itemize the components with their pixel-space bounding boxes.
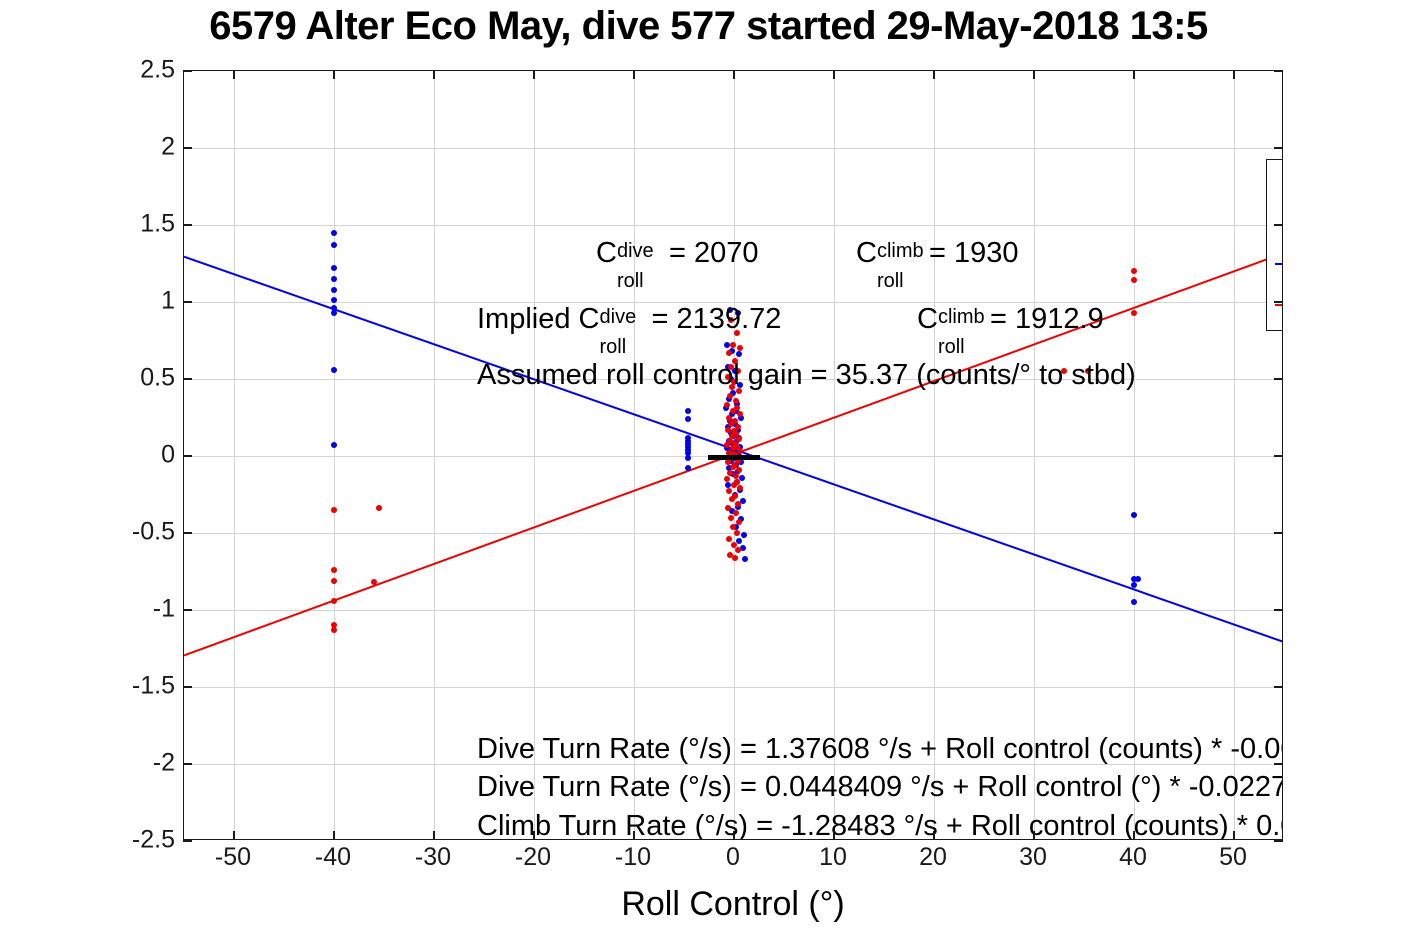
data-point-dive	[331, 230, 337, 236]
y-axis-tick	[183, 686, 192, 688]
annotation-c-climb-value: = 1930	[921, 237, 1019, 269]
data-layer	[184, 71, 1283, 840]
data-point-climb	[331, 567, 337, 573]
annotation-implied-climb: Cclimbroll = 1912.9	[917, 303, 1104, 336]
data-point-climb	[732, 555, 738, 561]
data-point-dive	[1131, 512, 1137, 518]
y-axis-tick	[183, 840, 192, 842]
equation-climb-counts: Climb Turn Rate (°/s) = -1.28483 °/s + R…	[477, 810, 1283, 840]
data-point-climb	[727, 393, 733, 399]
x-axis-tick	[733, 70, 735, 79]
x-axis-tick	[533, 831, 535, 840]
y-axis-tick	[183, 455, 192, 457]
implied-climb-symbol: C	[917, 303, 938, 335]
legend-item-data2[interactable]: data2	[1267, 285, 1283, 325]
data-point-climb	[730, 524, 736, 530]
x-axis-tick	[933, 831, 935, 840]
y-axis-tick	[1274, 686, 1283, 688]
y-axis-tick	[183, 609, 192, 611]
data-point-climb	[1131, 310, 1137, 316]
implied-prefix: Implied C	[477, 303, 600, 335]
y-axis-tick	[1274, 455, 1283, 457]
x-tick-label: 10	[819, 843, 847, 872]
legend-item-dive[interactable]: Dive	[1267, 162, 1283, 202]
y-axis-tick	[183, 378, 192, 380]
x-axis-tick	[433, 70, 435, 79]
y-axis-tick	[1274, 70, 1283, 72]
annotation-c-climb-symbol: C	[856, 237, 877, 269]
x-tick-label: -10	[615, 843, 651, 872]
data-point-climb	[728, 515, 734, 521]
legend-item-climb[interactable]: Climb	[1267, 203, 1283, 243]
y-tick-label: 1.5	[140, 210, 175, 239]
y-axis-tick	[183, 147, 192, 149]
y-axis-tick	[1274, 609, 1283, 611]
x-axis-tick	[1033, 831, 1035, 840]
data-point-climb	[728, 421, 734, 427]
equation-dive-counts: Dive Turn Rate (°/s) = 1.37608 °/s + Rol…	[477, 733, 1283, 766]
x-axis-tick	[1233, 70, 1235, 79]
annotation-roll-gain: Assumed roll control gain = 35.37 (count…	[477, 359, 1136, 392]
x-tick-label: 50	[1219, 843, 1247, 872]
x-tick-label: -30	[415, 843, 451, 872]
data-point-dive	[685, 455, 691, 461]
y-tick-label: -2	[153, 749, 175, 778]
data-point-climb	[331, 627, 337, 633]
y-axis-tick	[1274, 840, 1283, 842]
data-point-climb	[726, 350, 732, 356]
data-point-dive	[331, 276, 337, 282]
annotation-c-roll-climb: Cclimbroll = 1930	[856, 237, 1019, 270]
data-point-dive	[685, 416, 691, 422]
legend-item-data1[interactable]: data1	[1267, 244, 1283, 284]
plot-area: Cdiveroll = 2070 Cclimbroll = 1930 Impli…	[183, 70, 1283, 840]
implied-climb-value: = 1912.9	[982, 303, 1104, 335]
x-axis-tick	[1233, 831, 1235, 840]
equation-dive-degrees: Dive Turn Rate (°/s) = 0.0448409 °/s + R…	[477, 771, 1283, 804]
data-point-climb	[733, 398, 739, 404]
data-point-dive	[331, 367, 337, 373]
legend-marker-line	[1275, 304, 1283, 306]
data-point-dive	[741, 532, 747, 538]
y-tick-label: 1	[161, 287, 175, 316]
x-axis-tick	[333, 831, 335, 840]
y-axis-tick	[183, 532, 192, 534]
annotation-c-roll-dive: Cdiveroll = 2070	[596, 237, 759, 270]
page-title: 6579 Alter Eco May, dive 577 started 29-…	[209, 0, 1208, 54]
data-point-dive	[331, 310, 337, 316]
implied-dive-value: = 2139.72	[644, 303, 782, 335]
x-tick-label: 30	[1019, 843, 1047, 872]
x-axis-tick	[233, 831, 235, 840]
data-point-dive	[739, 475, 745, 481]
y-tick-label: 0	[161, 441, 175, 470]
x-axis-tick	[933, 70, 935, 79]
y-tick-label: 2	[161, 133, 175, 162]
y-tick-label: -2.5	[132, 826, 175, 855]
x-tick-label: 20	[919, 843, 947, 872]
x-axis-tick	[833, 70, 835, 79]
x-tick-label: 40	[1119, 843, 1147, 872]
annotation-c-dive-value: = 2070	[661, 237, 759, 269]
data-point-dive	[331, 287, 337, 293]
x-axis-tick	[333, 70, 335, 79]
y-tick-label: -0.5	[132, 518, 175, 547]
y-tick-label: 0.5	[140, 364, 175, 393]
x-tick-label: -50	[215, 843, 251, 872]
x-tick-label: -20	[515, 843, 551, 872]
data-point-climb	[331, 507, 337, 513]
x-axis-tick	[633, 70, 635, 79]
legend-marker-line	[1275, 263, 1283, 265]
x-axis-label: Roll Control (°)	[621, 885, 844, 924]
data-point-dive	[736, 538, 742, 544]
data-point-climb	[735, 547, 741, 553]
y-axis-tick	[1274, 301, 1283, 303]
y-tick-label: -1.5	[132, 672, 175, 701]
annotation-implied-dive: Implied Cdiveroll = 2139.72	[477, 303, 781, 336]
y-axis-tick	[183, 763, 192, 765]
x-axis-tick	[533, 70, 535, 79]
data-point-climb	[331, 598, 337, 604]
y-axis-tick	[183, 70, 192, 72]
x-axis-tick	[733, 831, 735, 840]
y-axis-tick	[1274, 147, 1283, 149]
y-axis-tick	[1274, 532, 1283, 534]
chart-figure: 6579 Alter Eco May, dive 577 started 29-…	[0, 0, 1417, 945]
x-axis-tick	[1033, 70, 1035, 79]
data-point-dive	[331, 242, 337, 248]
y-tick-label: 2.5	[140, 56, 175, 85]
cursor-marker	[708, 455, 760, 460]
data-point-climb	[736, 467, 742, 473]
x-tick-label: -40	[315, 843, 351, 872]
x-axis-tick	[1133, 831, 1135, 840]
x-axis-tick	[233, 70, 235, 79]
data-point-climb	[733, 510, 739, 516]
x-axis-tick	[433, 831, 435, 840]
legend: DiveClimbdata1data2	[1266, 159, 1283, 331]
y-axis-tick	[183, 224, 192, 226]
x-tick-label: 0	[726, 843, 740, 872]
data-point-climb	[733, 473, 739, 479]
y-tick-label: -1	[153, 595, 175, 624]
data-point-climb	[734, 530, 740, 536]
y-axis-tick	[183, 301, 192, 303]
y-axis-tick	[1274, 763, 1283, 765]
data-point-climb	[735, 501, 741, 507]
x-axis-tick	[1133, 70, 1135, 79]
annotation-c-dive-symbol: C	[596, 237, 617, 269]
y-axis-tick	[1274, 378, 1283, 380]
x-axis-tick	[833, 831, 835, 840]
data-point-climb	[331, 578, 337, 584]
y-axis-tick	[1274, 224, 1283, 226]
x-axis-tick	[633, 831, 635, 840]
